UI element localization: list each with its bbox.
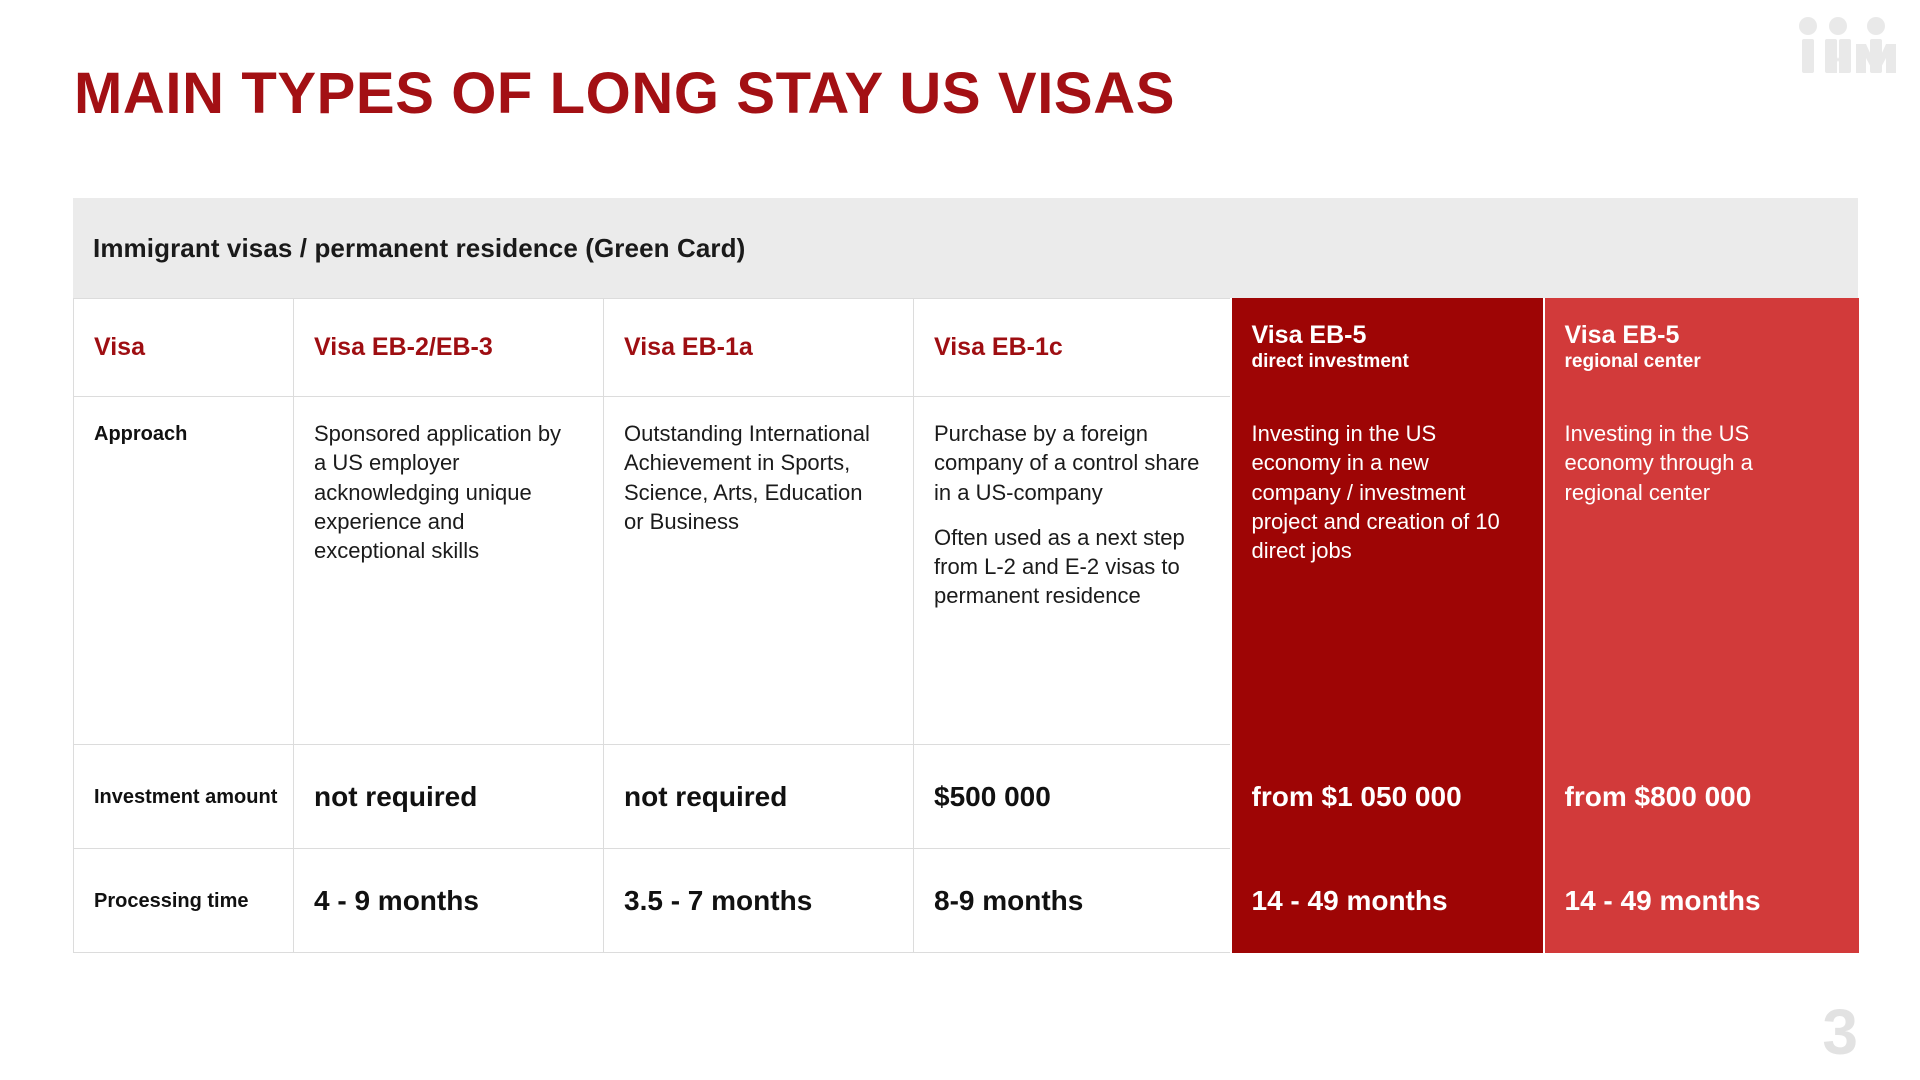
cell-value: 14 - 49 months bbox=[1252, 884, 1543, 918]
visa-table: Visa Visa EB-2/EB-3 Visa EB-1a Visa EB-1… bbox=[73, 298, 1859, 953]
cell-paragraph: Outstanding International Achievement in… bbox=[624, 419, 887, 536]
cell-value: not required bbox=[624, 780, 913, 814]
table-banner-title: Immigrant visas / permanent residence (G… bbox=[93, 233, 745, 264]
cell-paragraph: Investing in the US economy in a new com… bbox=[1252, 419, 1517, 565]
cell-value: not required bbox=[314, 780, 603, 814]
cell-value: 8-9 months bbox=[934, 884, 1230, 918]
cell-processing-eb5-regional-center: 14 - 49 months bbox=[1544, 849, 1859, 953]
cell-processing-eb2-eb3: 4 - 9 months bbox=[294, 849, 604, 953]
column-header-title: Visa EB-1a bbox=[624, 333, 913, 362]
cell-investment-eb1a: not required bbox=[604, 745, 914, 849]
cell-processing-eb1c: 8-9 months bbox=[914, 849, 1231, 953]
table-row-investment-amount: Investment amount not required not requi… bbox=[74, 745, 1859, 849]
table-header-row: Visa Visa EB-2/EB-3 Visa EB-1a Visa EB-1… bbox=[74, 299, 1859, 397]
table-banner: Immigrant visas / permanent residence (G… bbox=[73, 198, 1858, 298]
cell-investment-eb5-regional-center: from $800 000 bbox=[1544, 745, 1859, 849]
table-row-approach: Approach Sponsored application by a US e… bbox=[74, 397, 1859, 745]
slide-root: MAIN TYPES OF LONG STAY US VISAS Immigra… bbox=[0, 0, 1920, 1080]
column-header-subtitle: direct investment bbox=[1252, 351, 1543, 374]
cell-value: 3.5 - 7 months bbox=[624, 884, 913, 918]
column-header-title: Visa EB-2/EB-3 bbox=[314, 333, 603, 362]
imi-logo-icon bbox=[1794, 14, 1904, 76]
row-label-text: Processing time bbox=[94, 888, 293, 914]
visa-comparison-table: Immigrant visas / permanent residence (G… bbox=[73, 198, 1858, 953]
row-label-text: Investment amount bbox=[94, 784, 293, 810]
column-header-title: Visa EB-1c bbox=[934, 333, 1230, 362]
column-header-eb5-regional-center: Visa EB-5 regional center bbox=[1544, 299, 1859, 397]
cell-processing-eb1a: 3.5 - 7 months bbox=[604, 849, 914, 953]
column-header-title: Visa EB-5 bbox=[1252, 321, 1543, 350]
column-header-subtitle: regional center bbox=[1565, 351, 1859, 374]
row-label-investment-amount: Investment amount bbox=[74, 745, 294, 849]
cell-approach-eb2-eb3: Sponsored application by a US employer a… bbox=[294, 397, 604, 745]
cell-investment-eb5-direct-investment: from $1 050 000 bbox=[1231, 745, 1544, 849]
cell-paragraph: Purchase by a foreign company of a contr… bbox=[934, 419, 1204, 507]
table-row-processing-time: Processing time 4 - 9 months 3.5 - 7 mon… bbox=[74, 849, 1859, 953]
column-header-eb1a: Visa EB-1a bbox=[604, 299, 914, 397]
column-header-eb1c: Visa EB-1c bbox=[914, 299, 1231, 397]
cell-approach-eb1a: Outstanding International Achievement in… bbox=[604, 397, 914, 745]
cell-paragraph: Sponsored application by a US employer a… bbox=[314, 419, 577, 565]
cell-approach-eb5-regional-center: Investing in the US economy through a re… bbox=[1544, 397, 1859, 745]
row-label-text: Approach bbox=[94, 421, 267, 447]
page-title: MAIN TYPES OF LONG STAY US VISAS bbox=[74, 60, 1175, 127]
cell-approach-eb1c: Purchase by a foreign company of a contr… bbox=[914, 397, 1231, 745]
cell-value: 4 - 9 months bbox=[314, 884, 603, 918]
cell-value: 14 - 49 months bbox=[1565, 884, 1859, 918]
cell-value: from $800 000 bbox=[1565, 780, 1859, 814]
cell-investment-eb2-eb3: not required bbox=[294, 745, 604, 849]
cell-paragraph: Often used as a next step from L-2 and E… bbox=[934, 523, 1204, 611]
page-number: 3 bbox=[1822, 1000, 1858, 1064]
row-label-processing-time: Processing time bbox=[74, 849, 294, 953]
cell-approach-eb5-direct-investment: Investing in the US economy in a new com… bbox=[1231, 397, 1544, 745]
row-label-approach: Approach bbox=[74, 397, 294, 745]
cell-investment-eb1c: $500 000 bbox=[914, 745, 1231, 849]
column-header-title: Visa EB-5 bbox=[1565, 321, 1859, 350]
cell-value: from $1 050 000 bbox=[1252, 780, 1543, 814]
column-header-visa: Visa bbox=[74, 299, 294, 397]
column-header-eb5-direct-investment: Visa EB-5 direct investment bbox=[1231, 299, 1544, 397]
column-header-eb2-eb3: Visa EB-2/EB-3 bbox=[294, 299, 604, 397]
cell-value: $500 000 bbox=[934, 780, 1230, 814]
cell-processing-eb5-direct-investment: 14 - 49 months bbox=[1231, 849, 1544, 953]
cell-paragraph: Investing in the US economy through a re… bbox=[1565, 419, 1833, 507]
column-header-title: Visa bbox=[94, 333, 293, 362]
